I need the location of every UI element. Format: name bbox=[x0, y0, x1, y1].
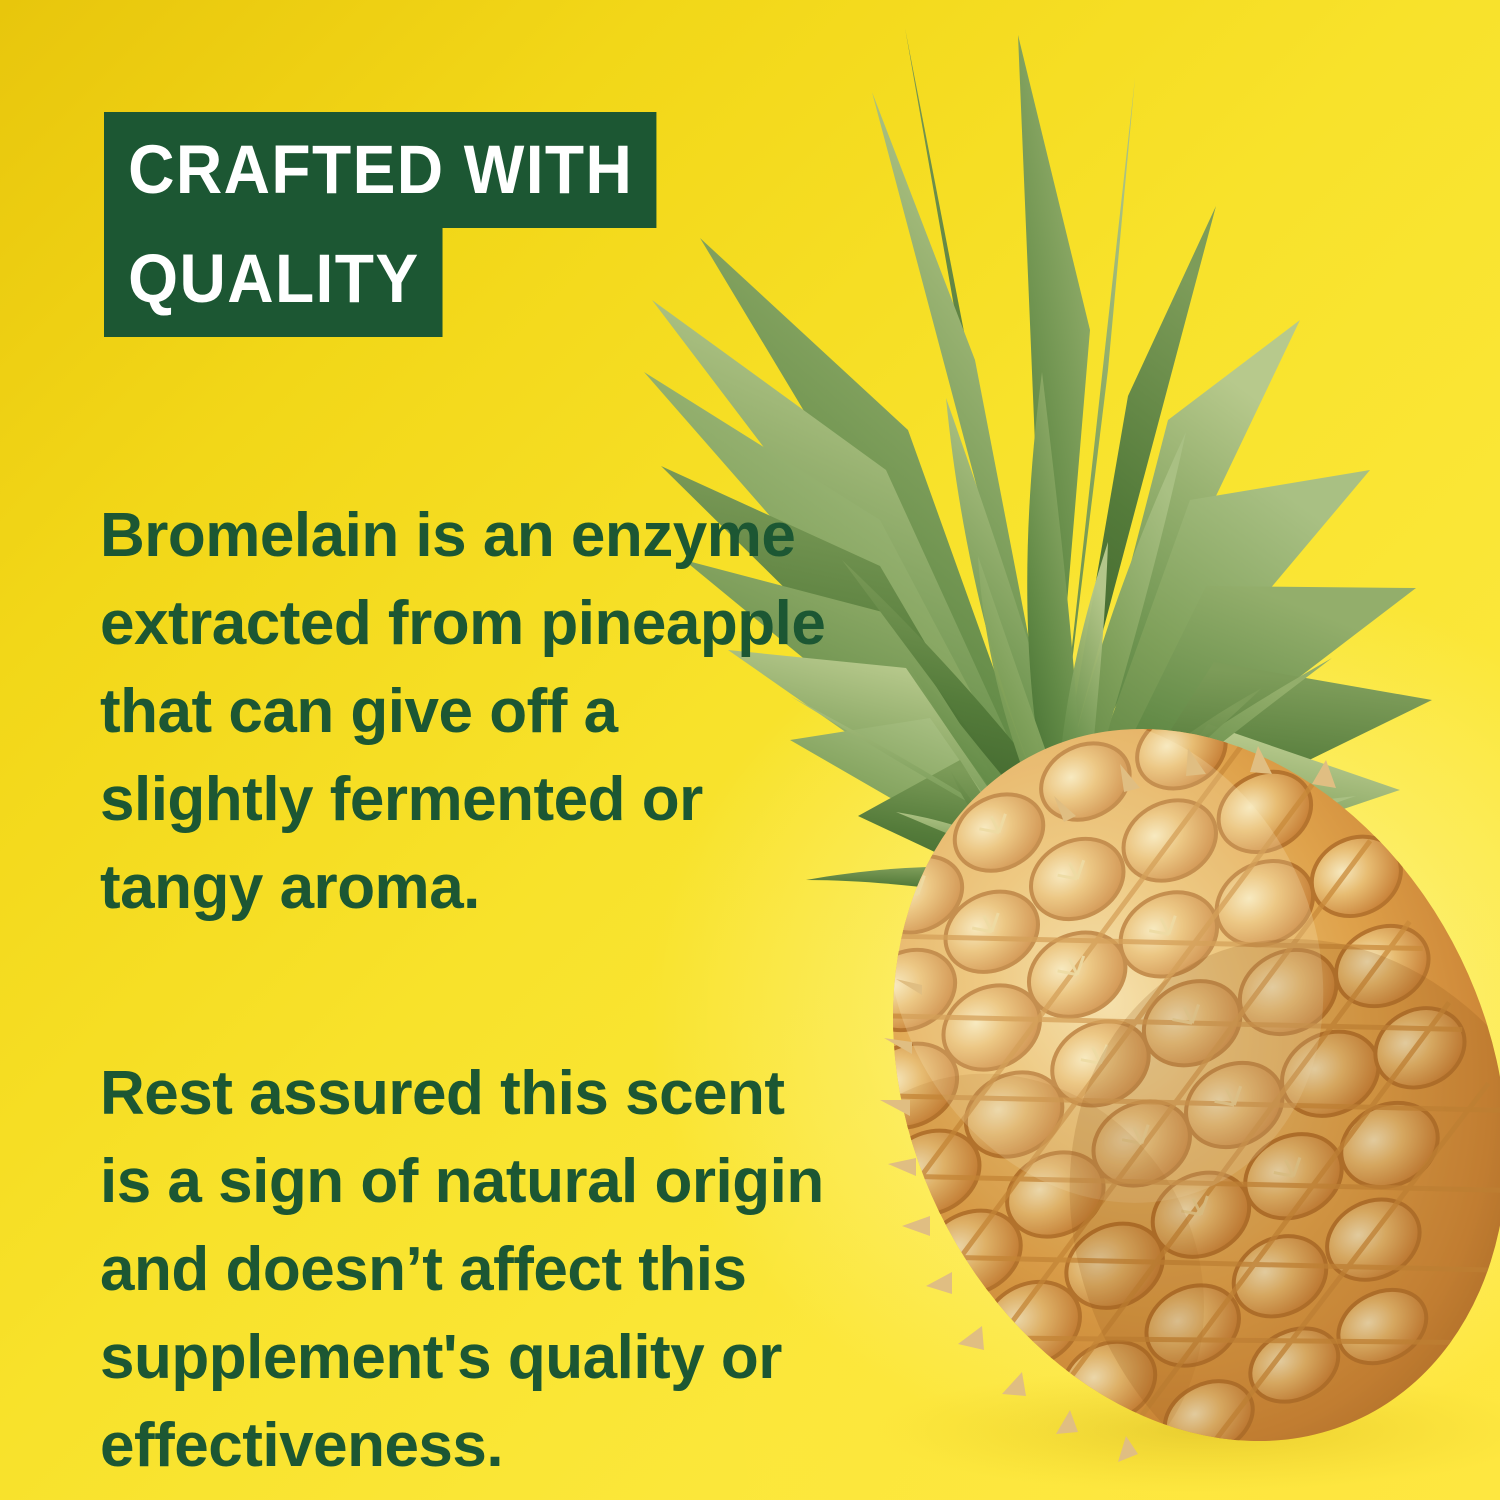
pineapple-edge-spikes bbox=[880, 746, 1336, 1462]
pineapple-body bbox=[724, 625, 1500, 1500]
pineapple-shadow bbox=[875, 1368, 1500, 1492]
paragraph-bromelain-description: Bromelain is an enzyme extracted from pi… bbox=[100, 492, 840, 932]
infographic-canvas: CRAFTED WITH QUALITY Bromelain is an enz… bbox=[0, 0, 1500, 1500]
pineapple-crown-front bbox=[896, 542, 1262, 987]
regular-text: and bbox=[100, 1235, 225, 1304]
emphasis-text: natural origin bbox=[435, 1147, 824, 1216]
pineapple-scales bbox=[724, 640, 1500, 1500]
pineapple-crown-mid bbox=[790, 372, 1356, 904]
emphasis-text: slightly fermented or tangy aroma. bbox=[100, 765, 703, 922]
regular-text: Bromelain is an enzyme extracted from pi… bbox=[100, 501, 825, 746]
heading-line-2: QUALITY bbox=[104, 221, 443, 337]
paragraph-scent-reassurance: Rest assured this scent is a sign of nat… bbox=[100, 1050, 840, 1490]
heading-block: CRAFTED WITH QUALITY bbox=[104, 112, 698, 337]
heading-line-1: CRAFTED WITH bbox=[104, 112, 657, 228]
